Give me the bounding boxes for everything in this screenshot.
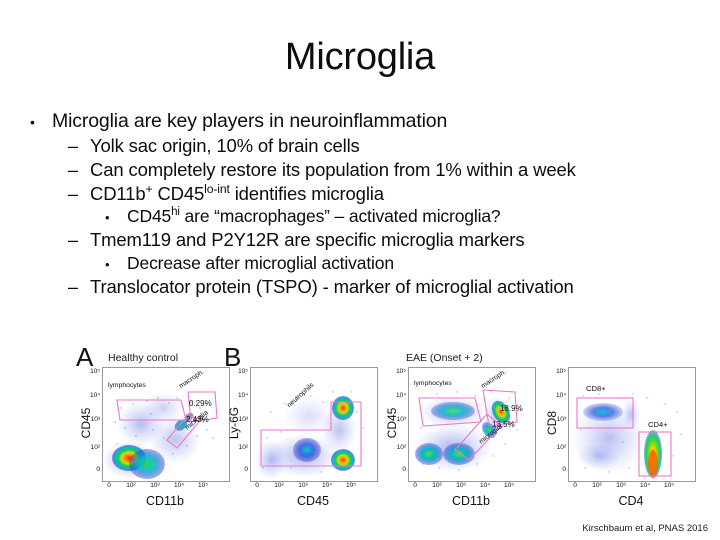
panel-d-xtick-1: 10² bbox=[590, 482, 604, 489]
panel-c-ytick-4: 0 bbox=[388, 466, 406, 473]
bullet-marker-icon: • bbox=[30, 115, 52, 129]
panel-c-xtick-0: 0 bbox=[408, 482, 422, 489]
bullet-marker-icon: – bbox=[68, 278, 90, 296]
panel-d-xtick-0: 0 bbox=[568, 482, 582, 489]
panel-a-y-axis-label: CD45 bbox=[79, 401, 93, 445]
panel-c-pct-macroph: 18.9% bbox=[500, 404, 523, 413]
bullet-item: •CD45hi are “macrophages” – activated mi… bbox=[30, 208, 702, 226]
panel-d-xtick-3: 10⁴ bbox=[638, 482, 652, 489]
bullet-marker-icon: – bbox=[68, 137, 90, 155]
panel-b-xtick-3: 10⁴ bbox=[320, 482, 334, 489]
bullet-text: CD11b+ CD45lo-int identifies microglia bbox=[90, 185, 702, 204]
panel-d-ytick-1: 10⁴ bbox=[548, 392, 566, 399]
panel-a-ytick-1: 10⁴ bbox=[82, 392, 100, 399]
panel-c-xtick-3: 10⁴ bbox=[478, 482, 492, 489]
panel-c-gate-lymphocytes: lymphocytes bbox=[414, 380, 452, 387]
bullet-marker-icon: – bbox=[68, 161, 90, 179]
panel-a-xtick-3: 10⁴ bbox=[172, 482, 186, 489]
panel-c-pct-microglia: 13.5% bbox=[492, 420, 515, 429]
panel-b-ytick-2: 10³ bbox=[230, 416, 248, 423]
panel-a-xtick-2: 10³ bbox=[148, 482, 162, 489]
flow-cytometry-figure: A Healthy control CD45 10⁵ 10⁴ 10³ 10² 0 bbox=[76, 348, 704, 520]
panel-a-ytick-4: 0 bbox=[82, 466, 100, 473]
panel-c-ytick-2: 10³ bbox=[388, 416, 406, 423]
panel-a-xtick-4: 10⁵ bbox=[196, 482, 210, 489]
bullet-text: Tmem119 and P2Y12R are specific microgli… bbox=[90, 231, 702, 250]
panel-letter-a: A bbox=[76, 344, 93, 370]
panel-b-plot bbox=[250, 367, 378, 482]
panel-d-y-axis-label: CD8 bbox=[545, 401, 559, 445]
bullet-marker-icon: – bbox=[68, 231, 90, 249]
panel-d-gate-cd4: CD4+ bbox=[648, 420, 668, 429]
panel-a-ytick-0: 10⁵ bbox=[82, 368, 100, 375]
panel-b-y-axis-label: Ly-6G bbox=[227, 401, 241, 445]
bullet-text: Yolk sac origin, 10% of brain cells bbox=[90, 137, 702, 156]
panel-d-ytick-0: 10⁵ bbox=[548, 368, 566, 375]
panel-letter-b: B bbox=[224, 344, 241, 370]
panel-d-ytick-2: 10³ bbox=[548, 416, 566, 423]
panel-c-xtick-1: 10² bbox=[430, 482, 444, 489]
bullet-text: Translocator protein (TSPO) - marker of … bbox=[90, 278, 702, 297]
panel-d-gate-cd8: CD8+ bbox=[586, 384, 606, 393]
panel-b-ytick-0: 10⁵ bbox=[230, 368, 248, 375]
panel-b-xtick-4: 10⁵ bbox=[344, 482, 358, 489]
bullet-text: Decrease after microglial activation bbox=[127, 255, 702, 273]
panel-c-ytick-3: 10² bbox=[388, 444, 406, 451]
figure-panel-b: B Ly-6G 10⁵ 10⁴ 10³ 10² 0 bbox=[224, 348, 382, 520]
figure-panel-d: CD8 10⁵ 10⁴ 10³ 10² 0 bbox=[542, 348, 704, 520]
bullet-marker-icon: – bbox=[68, 185, 90, 203]
page-title: Microglia bbox=[0, 38, 720, 78]
panel-b-ytick-4: 0 bbox=[230, 466, 248, 473]
bullet-item: –CD11b+ CD45lo-int identifies microglia bbox=[30, 185, 702, 204]
bullet-text: CD45hi are “macrophages” – activated mic… bbox=[127, 208, 702, 226]
bullet-text: Microglia are key players in neuroinflam… bbox=[52, 112, 702, 132]
bullet-marker-icon: • bbox=[105, 211, 127, 224]
panel-c-ytick-1: 10⁴ bbox=[388, 392, 406, 399]
panel-a-ytick-2: 10³ bbox=[82, 416, 100, 423]
bullet-item: –Translocator protein (TSPO) - marker of… bbox=[30, 278, 702, 297]
panel-b-xtick-0: 0 bbox=[250, 482, 264, 489]
panel-a-pct-microglia: 2.43% bbox=[186, 415, 209, 424]
panel-title-c: EAE (Onset + 2) bbox=[406, 352, 483, 364]
panel-a-gate-lymphocytes: lymphocytes bbox=[108, 382, 146, 389]
panel-a-xtick-1: 10² bbox=[124, 482, 138, 489]
panel-b-xtick-1: 10² bbox=[272, 482, 286, 489]
panel-a-xtick-0: 0 bbox=[102, 482, 116, 489]
bullet-item: –Tmem119 and P2Y12R are specific microgl… bbox=[30, 231, 702, 250]
figure-panel-a: A Healthy control CD45 10⁵ 10⁴ 10³ 10² 0 bbox=[76, 348, 236, 520]
panel-c-y-axis-label: CD45 bbox=[385, 401, 399, 445]
panel-d-xtick-2: 10³ bbox=[614, 482, 628, 489]
panel-d-ytick-4: 0 bbox=[548, 466, 566, 473]
bullet-item: •Decrease after microglial activation bbox=[30, 255, 702, 273]
panel-a-x-axis-label: CD11b bbox=[102, 494, 228, 508]
panel-b-xtick-2: 10³ bbox=[296, 482, 310, 489]
panel-c-ytick-0: 10⁵ bbox=[388, 368, 406, 375]
bullet-marker-icon: • bbox=[105, 258, 127, 271]
panel-title-a: Healthy control bbox=[108, 352, 178, 364]
panel-c-xtick-4: 10⁵ bbox=[502, 482, 516, 489]
figure-panel-c: EAE (Onset + 2) CD45 10⁵ 10⁴ 10³ 10² 0 bbox=[382, 348, 542, 520]
panel-a-ytick-3: 10² bbox=[82, 444, 100, 451]
panel-d-x-axis-label: CD4 bbox=[568, 494, 694, 508]
bullet-text: Can completely restore its population fr… bbox=[90, 161, 702, 180]
panel-d-ytick-3: 10² bbox=[548, 444, 566, 451]
bullet-list: •Microglia are key players in neuroinfla… bbox=[30, 112, 702, 302]
bullet-item: •Microglia are key players in neuroinfla… bbox=[30, 112, 702, 132]
panel-b-ytick-1: 10⁴ bbox=[230, 392, 248, 399]
bullet-item: –Can completely restore its population f… bbox=[30, 161, 702, 180]
bullet-item: –Yolk sac origin, 10% of brain cells bbox=[30, 137, 702, 156]
panel-c-xtick-2: 10³ bbox=[454, 482, 468, 489]
panel-c-x-axis-label: CD11b bbox=[408, 494, 534, 508]
citation: Kirschbaum et al, PNAS 2016 bbox=[582, 523, 708, 534]
panel-d-xtick-4: 10⁵ bbox=[662, 482, 676, 489]
panel-b-x-axis-label: CD45 bbox=[250, 494, 376, 508]
panel-a-pct-macroph: 0.29% bbox=[189, 399, 212, 408]
panel-b-ytick-3: 10² bbox=[230, 444, 248, 451]
